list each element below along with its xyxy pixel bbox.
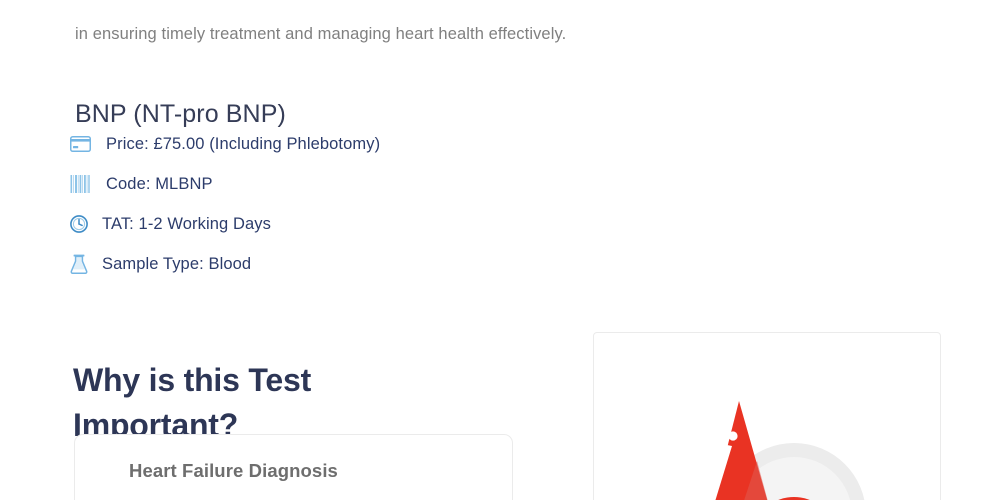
detail-row-price: Price: £75.00 (Including Phlebotomy) bbox=[70, 124, 590, 164]
credit-card-icon bbox=[70, 131, 100, 157]
detail-label-sample: Sample Type: Blood bbox=[102, 255, 251, 274]
barcode-icon bbox=[70, 171, 100, 197]
illustration-card bbox=[593, 332, 941, 500]
page-root: in ensuring timely treatment and managin… bbox=[0, 0, 1000, 500]
detail-label-code: Code: MLBNP bbox=[106, 175, 213, 194]
detail-row-sample: Sample Type: Blood bbox=[70, 244, 590, 284]
feature-card-heart-failure-diagnosis[interactable]: Heart Failure Diagnosis bbox=[74, 434, 513, 500]
intro-paragraph: in ensuring timely treatment and managin… bbox=[75, 21, 695, 47]
feature-card-title: Heart Failure Diagnosis bbox=[129, 460, 338, 482]
test-detail-list: Price: £75.00 (Including Phlebotomy) bbox=[70, 124, 590, 284]
flask-icon bbox=[70, 251, 100, 277]
clock-icon bbox=[70, 211, 100, 237]
detail-row-code: Code: MLBNP bbox=[70, 164, 590, 204]
detail-label-tat: TAT: 1-2 Working Days bbox=[102, 215, 271, 234]
blood-test-illustration bbox=[594, 333, 940, 500]
detail-label-price: Price: £75.00 (Including Phlebotomy) bbox=[106, 135, 380, 154]
detail-row-tat: TAT: 1-2 Working Days bbox=[70, 204, 590, 244]
